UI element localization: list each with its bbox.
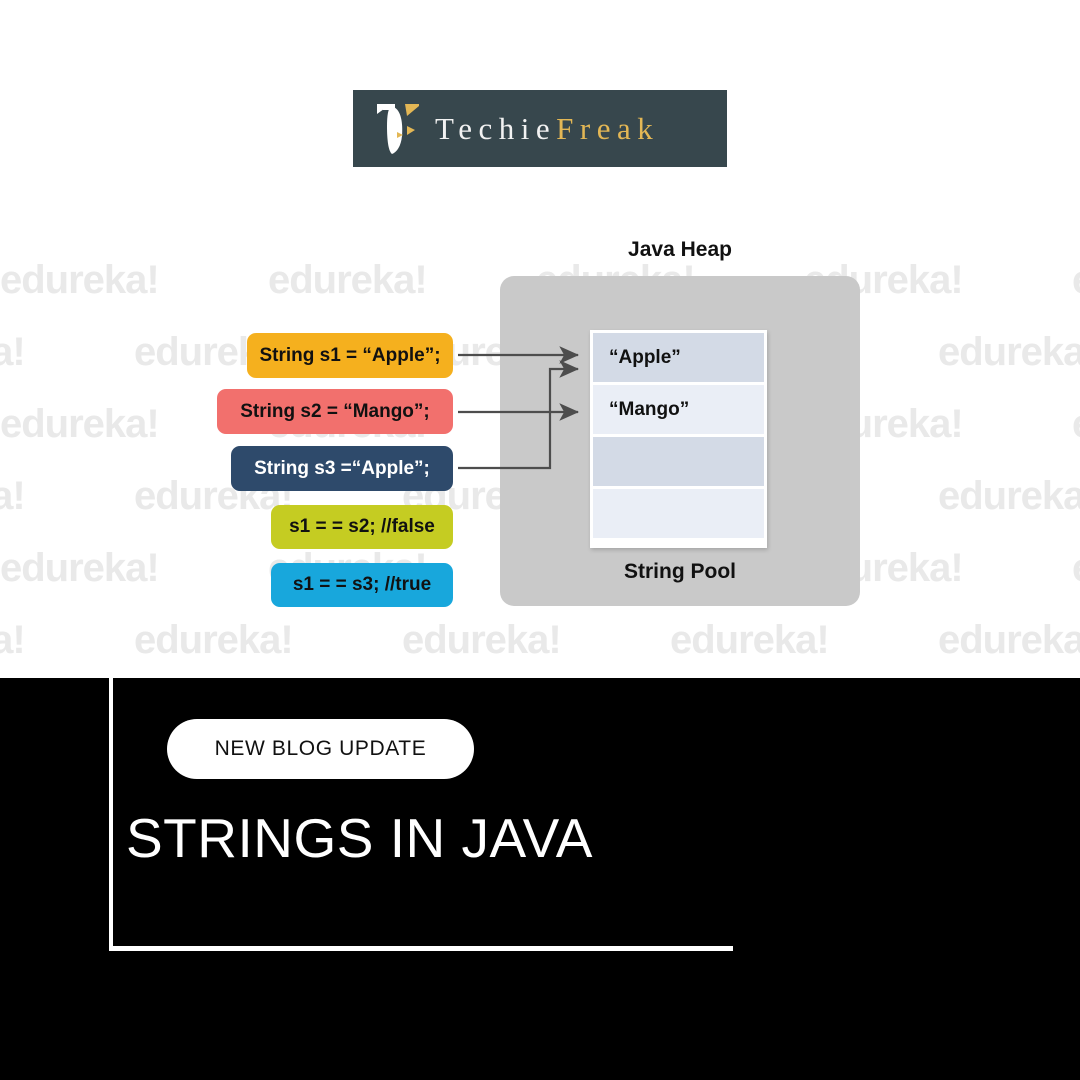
brand-logo-wordmark: TechieFreak — [435, 111, 659, 147]
watermark-text: edureka! — [1072, 402, 1080, 447]
watermark-text: edureka! — [0, 258, 159, 303]
watermark-text: edureka! — [268, 258, 427, 303]
watermark-text: edureka! — [670, 618, 829, 663]
brand-word-techie: Techie — [435, 111, 556, 146]
brand-logo: TechieFreak — [353, 90, 727, 167]
string-pool-label: String Pool — [560, 560, 800, 584]
statement-pill-s3: String s3 =“Apple”; — [231, 446, 453, 491]
poster-canvas: edureka!edureka!edureka!edureka!edureka!… — [0, 0, 1080, 1080]
string-pool-cell — [593, 437, 764, 486]
string-pool-cell: “Mango” — [593, 385, 764, 434]
watermark-text: edureka! — [0, 330, 25, 375]
watermark-text: edureka! — [0, 474, 25, 519]
watermark-text: edureka! — [1072, 258, 1080, 303]
watermark-text: edureka! — [938, 330, 1080, 375]
comparison-pill-s1-s3: s1 = = s3; //true — [271, 563, 453, 607]
watermark-text: edureka! — [938, 618, 1080, 663]
frame-vertical-rule — [109, 678, 113, 950]
watermark-text: edureka! — [134, 618, 293, 663]
string-pool-cell — [593, 489, 764, 538]
poster-headline: STRINGS IN JAVA — [126, 806, 593, 870]
frame-horizontal-rule — [109, 946, 733, 951]
java-heap-label: Java Heap — [560, 238, 800, 262]
new-blog-update-badge[interactable]: NEW BLOG UPDATE — [167, 719, 474, 779]
watermark-text: edureka! — [0, 402, 159, 447]
title-panel — [0, 678, 1080, 1080]
watermark-text: edureka! — [0, 618, 25, 663]
string-pool-box: “Apple” “Mango” — [590, 330, 767, 548]
brand-word-freak: Freak — [556, 111, 659, 146]
comparison-pill-s1-s2: s1 = = s2; //false — [271, 505, 453, 549]
statement-pill-s1: String s1 = “Apple”; — [247, 333, 453, 378]
watermark-text: edureka! — [1072, 546, 1080, 591]
watermark-text: edureka! — [938, 474, 1080, 519]
string-pool-cell: “Apple” — [593, 333, 764, 382]
watermark-text: edureka! — [402, 618, 561, 663]
techiefreak-monogram-icon — [371, 102, 429, 156]
statement-pill-s2: String s2 = “Mango”; — [217, 389, 453, 434]
diagram-panel: edureka!edureka!edureka!edureka!edureka!… — [0, 0, 1080, 678]
watermark-text: edureka! — [0, 546, 159, 591]
